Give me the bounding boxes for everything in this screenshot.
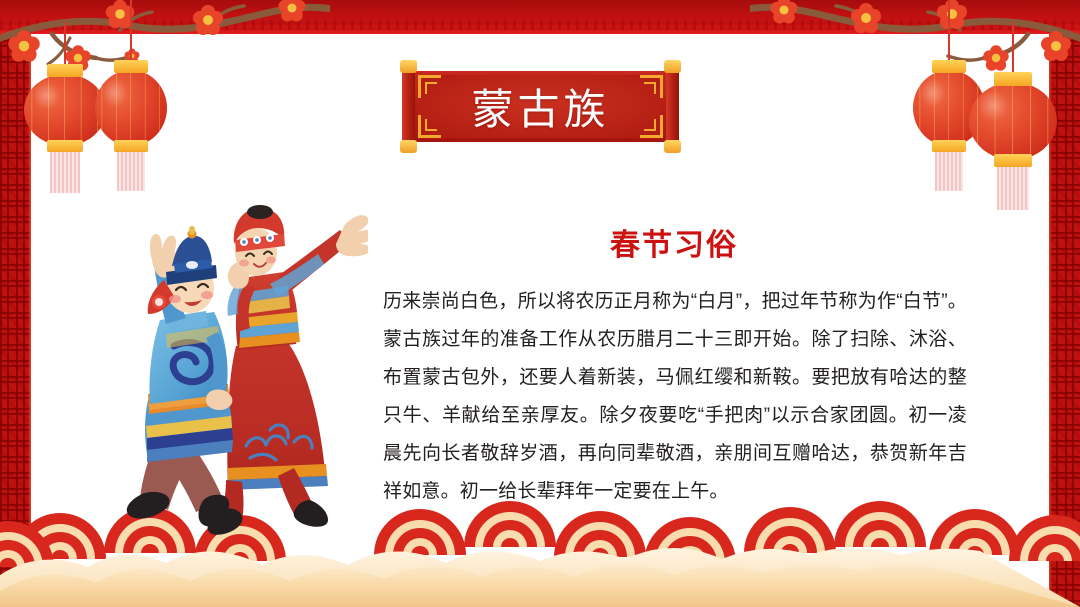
mongolian-dancers-illustration (118, 168, 368, 538)
lantern-highlight (978, 90, 1008, 121)
female-dancer (208, 205, 368, 535)
lantern-left-inner (92, 0, 170, 180)
title-banner: 蒙古族 (400, 60, 681, 153)
lantern-cord (130, 0, 132, 62)
lantern-tassel (997, 166, 1029, 210)
lantern-cap-bottom (47, 140, 83, 152)
lantern-cord (1012, 22, 1014, 74)
lantern-tassel (935, 151, 963, 191)
lantern-highlight (920, 78, 944, 108)
section-body-text: 历来崇尚白色，所以将农历正月称为“白月”，把过年节称为作“白节”。蒙古族过年的准… (383, 283, 967, 511)
lantern-cap-top (47, 64, 83, 77)
lantern-body (95, 70, 167, 146)
male-dancer (127, 226, 233, 526)
lantern-cap-top (994, 72, 1032, 86)
lantern-cap-top (114, 60, 148, 73)
lantern-cap-top (932, 60, 966, 73)
slide-canvas: 蒙古族 (0, 0, 1080, 607)
lantern-right-outer (972, 22, 1054, 212)
lantern-tassel (50, 151, 80, 193)
lantern-highlight (32, 81, 60, 110)
lantern-cap-bottom (932, 140, 966, 152)
lantern-cap-bottom (994, 154, 1032, 167)
banner-title-text: 蒙古族 (400, 60, 681, 153)
lantern-cord (948, 0, 950, 62)
lantern-cap-bottom (114, 140, 148, 152)
lantern-highlight (102, 78, 126, 108)
section-heading: 春节习俗 (383, 220, 965, 264)
lantern-cord (64, 22, 66, 66)
lantern-body (969, 82, 1057, 160)
